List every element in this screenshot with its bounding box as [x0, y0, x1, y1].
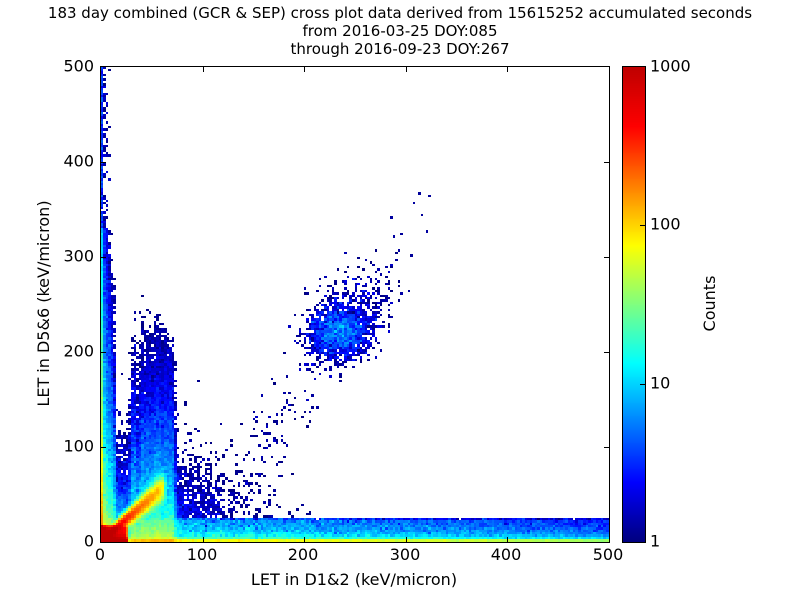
x-tick-bottom: [507, 537, 508, 542]
title-line-2: from 2016-03-25 DOY:085: [0, 22, 800, 40]
x-tick-label: 200: [288, 545, 319, 564]
colorbar-tick-label: 1000: [650, 57, 691, 76]
x-tick-label: 100: [187, 545, 218, 564]
x-tick-label: 300: [390, 545, 421, 564]
y-tick-label: 400: [63, 152, 94, 171]
heatmap-canvas: [101, 67, 609, 542]
y-tick-left: [101, 162, 106, 163]
x-tick-top: [507, 67, 508, 72]
figure-canvas: 183 day combined (GCR & SEP) cross plot …: [0, 0, 800, 600]
y-tick-label: 200: [63, 342, 94, 361]
y-tick-right: [604, 162, 609, 163]
y-tick-left: [101, 447, 106, 448]
colorbar-title: Counts: [700, 66, 720, 541]
x-tick-label: 400: [491, 545, 522, 564]
x-tick-top: [406, 67, 407, 72]
title-line-1: 183 day combined (GCR & SEP) cross plot …: [0, 4, 800, 22]
y-tick-label: 500: [63, 57, 94, 76]
y-axis-label: LET in D5&6 (keV/micron): [34, 66, 56, 541]
colorbar-gradient: [623, 67, 645, 542]
colorbar-tick-label: 10: [650, 374, 670, 393]
x-tick-top: [203, 67, 204, 72]
colorbar-tick-label: 1: [650, 532, 660, 551]
plot-axes: [100, 66, 610, 543]
x-tick-bottom: [304, 537, 305, 542]
y-tick-left: [101, 352, 106, 353]
y-tick-right: [604, 447, 609, 448]
x-tick-label: 500: [593, 545, 624, 564]
x-tick-bottom: [406, 537, 407, 542]
title-line-3: through 2016-09-23 DOY:267: [0, 40, 800, 58]
y-tick-right: [604, 352, 609, 353]
colorbar-tick-label: 100: [650, 215, 681, 234]
x-tick-label: 0: [95, 545, 105, 564]
colorbar: [622, 66, 646, 543]
figure-title: 183 day combined (GCR & SEP) cross plot …: [0, 4, 800, 58]
y-tick-label: 100: [63, 437, 94, 456]
colorbar-tick: [640, 225, 645, 226]
x-axis-label: LET in D1&2 (keV/micron): [100, 570, 608, 589]
y-tick-left: [101, 257, 106, 258]
y-tick-label: 0: [84, 532, 94, 551]
x-tick-top: [304, 67, 305, 72]
x-tick-bottom: [203, 537, 204, 542]
colorbar-tick: [640, 384, 645, 385]
y-tick-label: 300: [63, 247, 94, 266]
y-tick-right: [604, 257, 609, 258]
